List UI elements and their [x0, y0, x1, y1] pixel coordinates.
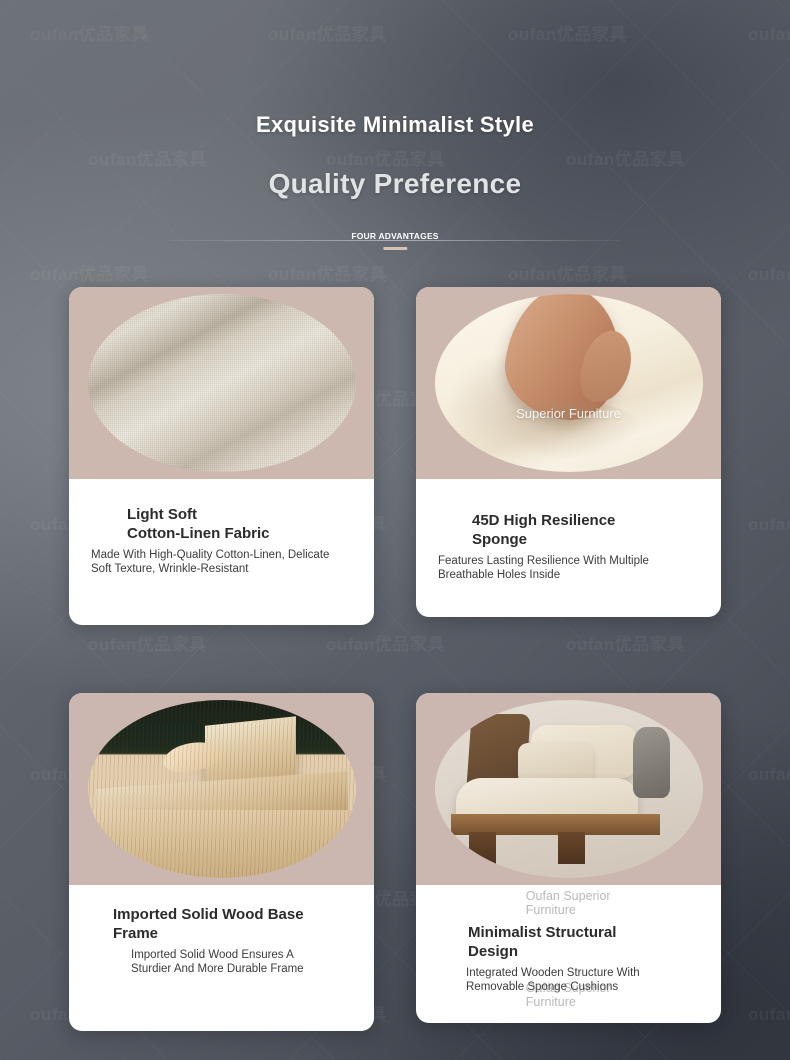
- wood-grain-texture: [88, 700, 356, 878]
- sponge-photo: [435, 294, 703, 472]
- advantage-card-minimalist-structural-design[interactable]: Oufan Superior Furniture Minimalist Stru…: [416, 693, 721, 1023]
- watermark-text: oufan优品家具: [748, 1000, 790, 1025]
- card-description: Imported Solid Wood Ensures A Sturdier A…: [83, 948, 360, 976]
- image-overlay-caption: Superior Furniture: [516, 406, 621, 421]
- advantages-grid: Light Soft Cotton-Linen Fabric Made With…: [69, 287, 721, 1031]
- watermark-text: oufan优品家具: [30, 260, 149, 285]
- watermark-text: oufan优品家具: [748, 510, 790, 535]
- divider-label: FOUR ADVANTAGES: [343, 229, 446, 243]
- card-image-panel: [416, 693, 721, 885]
- card-body: 45D High Resilience Sponge Features Last…: [416, 479, 721, 582]
- card-title: 45D High Resilience Sponge: [430, 511, 707, 549]
- page-subtitle: Quality Preference: [0, 168, 790, 200]
- card-description: Features Lasting Resilience With Multipl…: [430, 554, 707, 582]
- card-image-panel: Superior Furniture: [416, 287, 721, 479]
- watermark-text: oufan优品家具: [508, 260, 627, 285]
- page-header: Exquisite Minimalist Style Quality Prefe…: [0, 0, 790, 200]
- divider-label-wrap: FOUR ADVANTAGES: [343, 226, 446, 250]
- page-title: Exquisite Minimalist Style: [0, 112, 790, 138]
- card-description: Made With High-Quality Cotton-Linen, Del…: [83, 548, 360, 576]
- divider-underline-accent: [383, 247, 407, 250]
- card-title: Imported Solid Wood Base Frame: [83, 905, 360, 943]
- sofa-photo: [435, 700, 703, 878]
- card-title: Light Soft Cotton-Linen Fabric: [83, 505, 360, 543]
- watermark-text: oufan优品家具: [748, 260, 790, 285]
- advantage-card-cotton-linen-fabric[interactable]: Light Soft Cotton-Linen Fabric Made With…: [69, 287, 374, 625]
- card-image-panel: [69, 287, 374, 479]
- advantage-card-high-resilience-sponge[interactable]: Superior Furniture 45D High Resilience S…: [416, 287, 721, 617]
- watermark-text: oufan优品家具: [268, 260, 387, 285]
- advantage-card-solid-wood-base-frame[interactable]: Imported Solid Wood Base Frame Imported …: [69, 693, 374, 1031]
- wood-photo: [88, 700, 356, 878]
- card-body: Minimalist Structural Design Integrated …: [416, 923, 721, 994]
- sofa-leg: [469, 832, 496, 864]
- card-description: Integrated Wooden Structure With Removab…: [430, 966, 707, 994]
- card-watermark-top: Oufan Superior Furniture: [526, 889, 611, 917]
- section-divider: FOUR ADVANTAGES: [170, 226, 620, 254]
- card-body: Imported Solid Wood Base Frame Imported …: [69, 905, 374, 976]
- watermark-text: oufan优品家具: [748, 760, 790, 785]
- card-title: Minimalist Structural Design: [430, 923, 707, 961]
- card-image-panel: [69, 693, 374, 885]
- decorative-vase: [633, 727, 671, 798]
- card-body: Light Soft Cotton-Linen Fabric Made With…: [69, 505, 374, 576]
- sofa-leg: [558, 832, 585, 864]
- fabric-photo: [88, 294, 356, 472]
